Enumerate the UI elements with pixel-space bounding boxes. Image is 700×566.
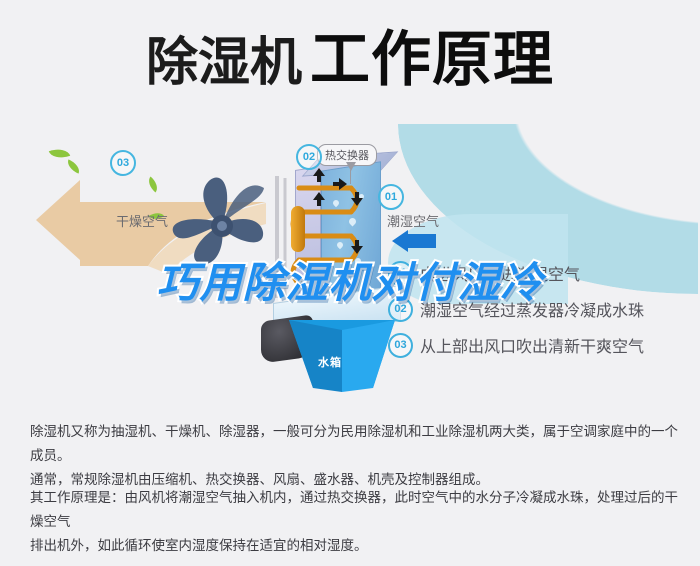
body-paragraph-1: 除湿机又称为抽湿机、干燥机、除湿器，一般可分为民用除湿机和工业除湿机两大类，属于… [30, 420, 678, 492]
body-paragraph-2: 其工作原理是：由风机将潮湿空气抽入机内，通过热交换器，此时空气中的水分子冷凝成水… [30, 486, 678, 558]
diagram-badge-03: 03 [110, 150, 136, 176]
body-p2-line1: 其工作原理是：由风机将潮湿空气抽入机内，通过热交换器，此时空气中的水分子冷凝成水… [30, 486, 678, 534]
page-title: 除湿机工作原理 [0, 30, 700, 90]
overlay-headline: 巧用除湿机对付湿冷 [0, 262, 700, 304]
page-title-part1: 除湿机 [146, 34, 302, 92]
body-p2-line2: 排出机外，如此循环使室内湿度保持在适宜的相对湿度。 [30, 534, 678, 558]
dry-air-label: 干燥空气 [116, 211, 168, 230]
diagram-badge-02: 02 [296, 144, 322, 170]
page-title-part2: 工作原理 [310, 26, 554, 93]
heat-exchanger-callout-label: 热交换器 [325, 150, 369, 162]
callout-tail-icon [346, 162, 356, 171]
legend-badge-03: 03 [388, 333, 413, 358]
infographic-page: 除湿机工作原理 [0, 0, 700, 566]
air-inlet-arrow [392, 230, 436, 252]
callout-stem-icon [350, 170, 351, 184]
body-p1-line1: 除湿机又称为抽湿机、干燥机、除湿器，一般可分为民用除湿机和工业除湿机两大类，属于… [30, 420, 678, 468]
diagram-badge-01: 01 [378, 184, 404, 210]
water-tank [287, 316, 397, 392]
water-tank-label: 水箱 [318, 354, 342, 370]
leaf-icon-1 [49, 145, 70, 161]
legend-text-03: 从上部出风口吹出清新干爽空气 [420, 333, 644, 357]
humid-air-label: 潮湿空气 [387, 211, 439, 230]
legend-item: 03 从上部出风口吹出清新干爽空气 [388, 327, 688, 363]
